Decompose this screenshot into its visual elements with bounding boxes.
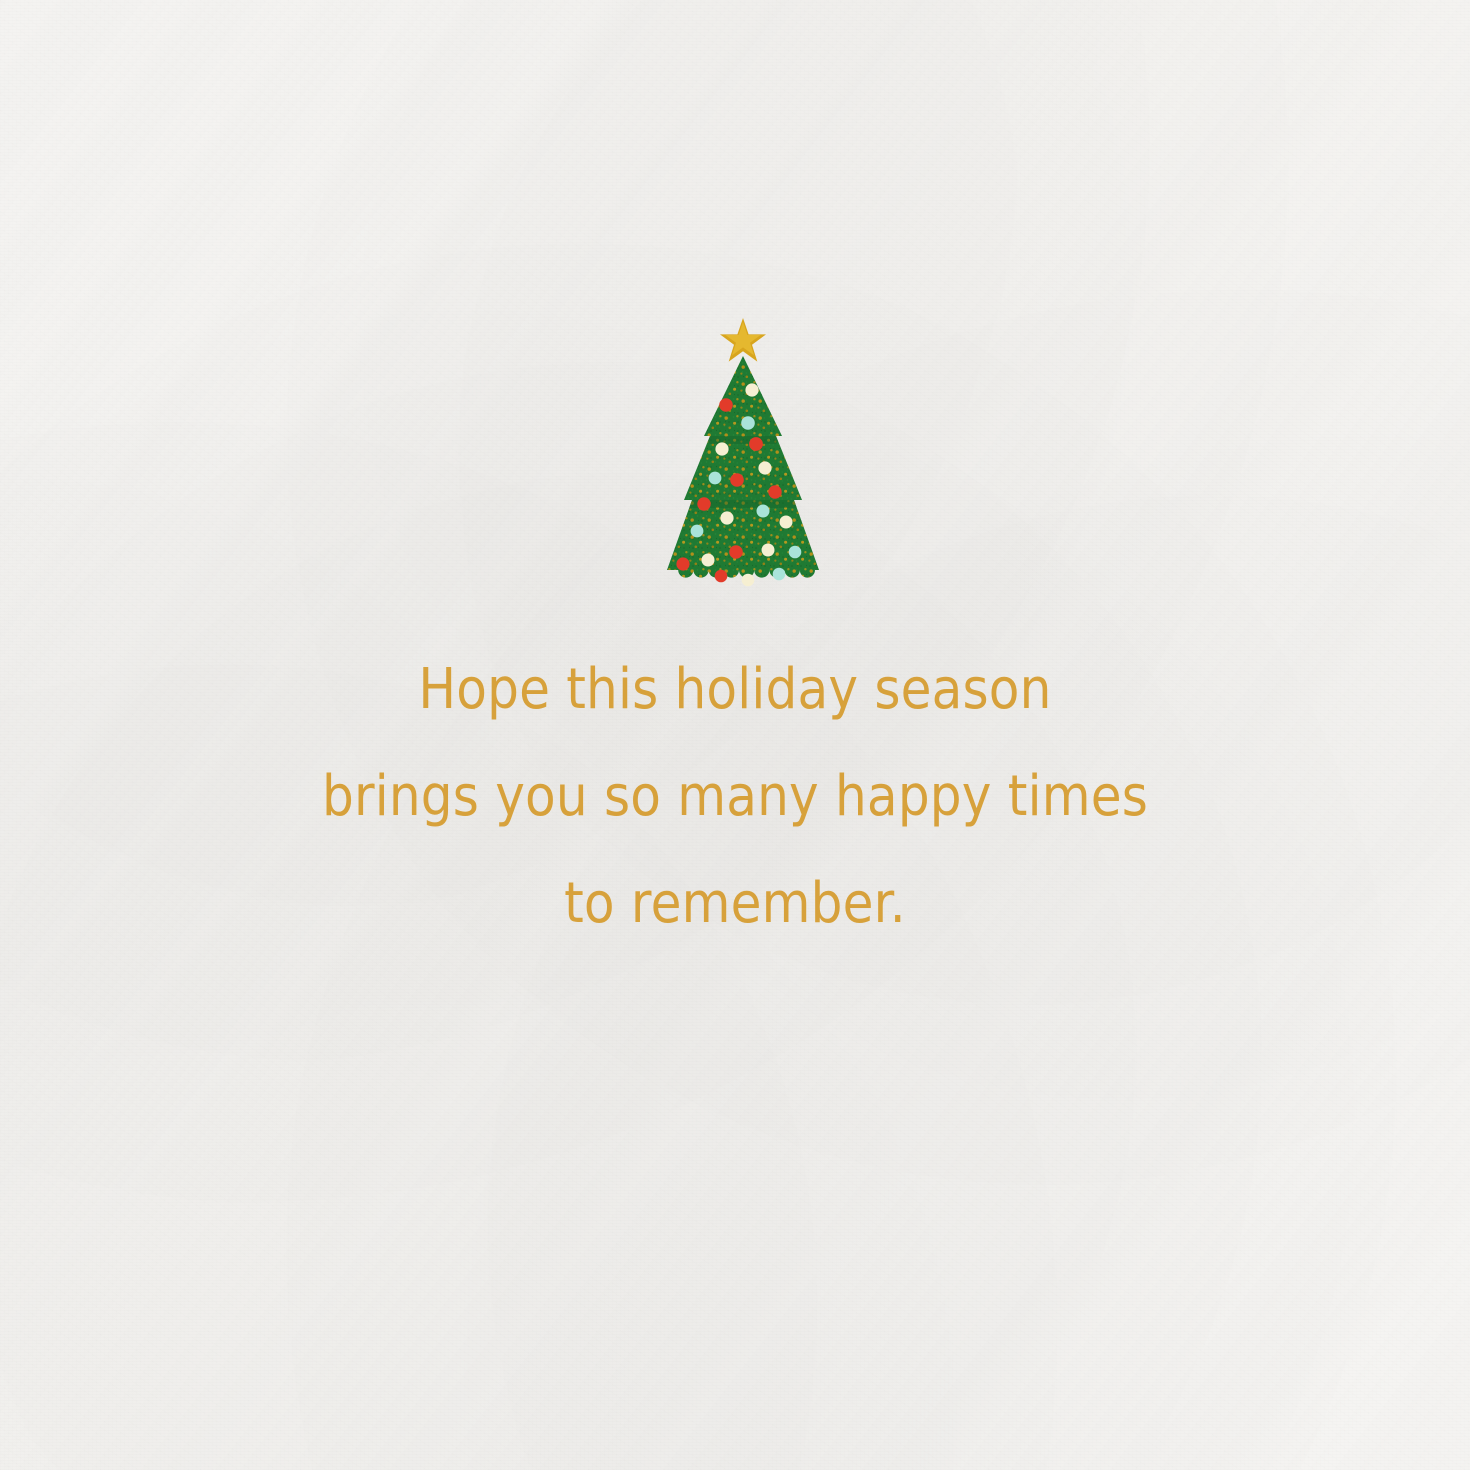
greeting-card: Hope this holiday season brings you so m… xyxy=(0,0,1470,1470)
greeting-line-2: brings you so many happy times xyxy=(77,743,1393,850)
greeting-line-1: Hope this holiday season xyxy=(77,636,1393,743)
star-topper-icon xyxy=(720,318,766,362)
greeting-line-3: to remember. xyxy=(77,850,1393,957)
tree-foliage xyxy=(655,312,831,588)
greeting-message: Hope this holiday season brings you so m… xyxy=(0,636,1470,957)
christmas-tree-icon xyxy=(655,312,831,588)
